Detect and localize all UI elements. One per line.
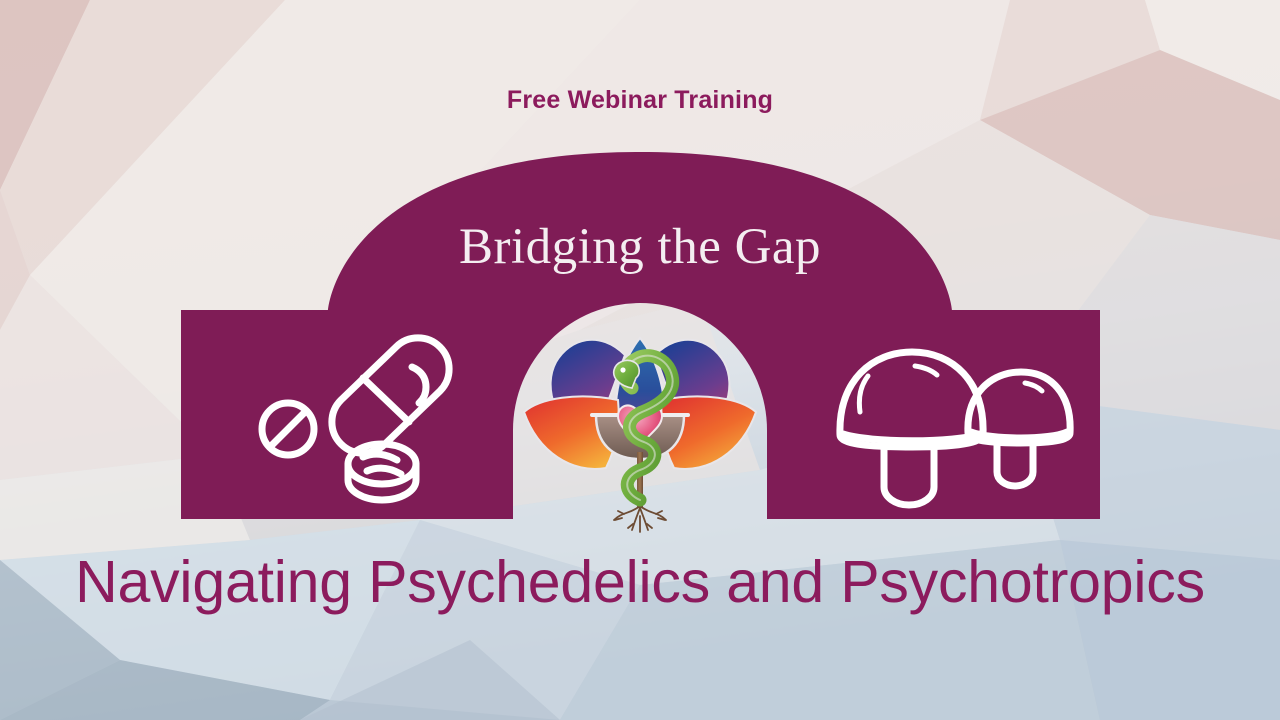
subtitle-text: Navigating Psychedelics and Psychotropic… xyxy=(0,548,1280,616)
page-title: Bridging the Gap xyxy=(0,218,1280,276)
banner-path xyxy=(181,152,1100,519)
presentation-slide: Free Webinar Training Bridging the Gap N… xyxy=(0,0,1280,720)
kicker-text: Free Webinar Training xyxy=(0,86,1280,115)
